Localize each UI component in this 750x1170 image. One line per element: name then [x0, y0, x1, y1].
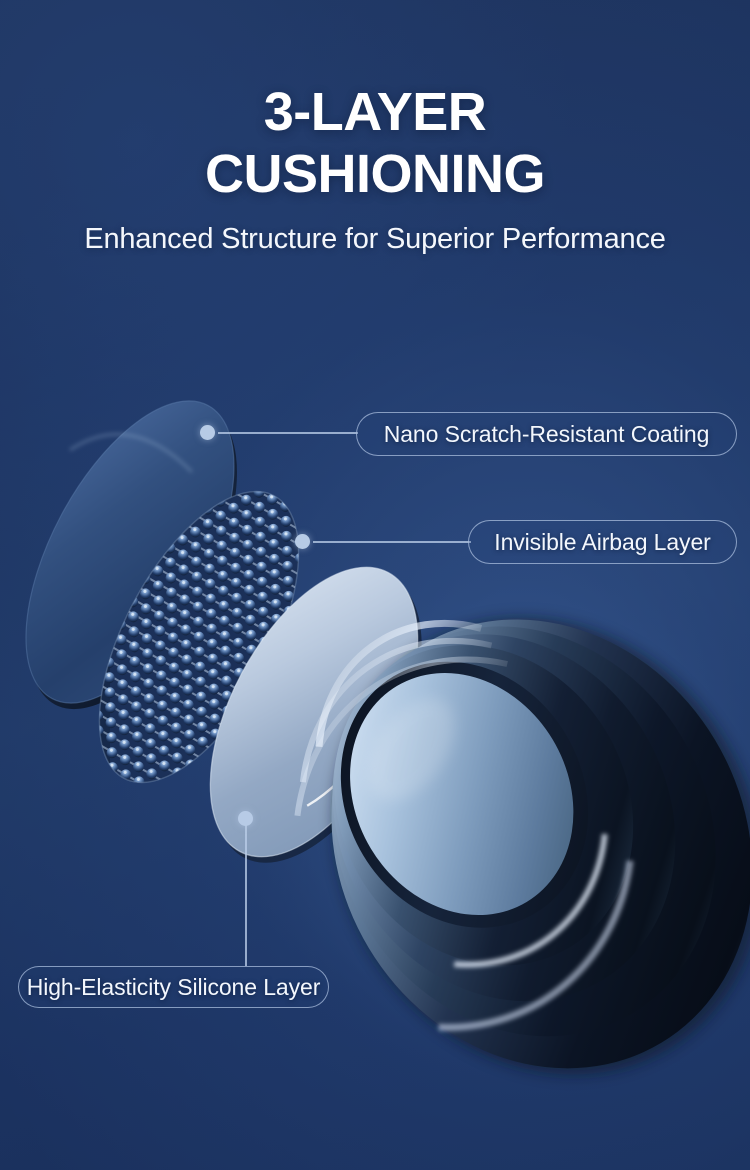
page-title-line-1: 3-LAYER: [0, 80, 750, 144]
leader-line-silicone: [245, 818, 247, 966]
page-subtitle: Enhanced Structure for Superior Performa…: [0, 222, 750, 256]
callout-invisible-airbag: Invisible Airbag Layer: [468, 520, 737, 564]
callout-nano-coating: Nano Scratch-Resistant Coating: [356, 412, 737, 456]
marker-dot-silicone: [238, 811, 253, 826]
callout-silicone-layer: High-Elasticity Silicone Layer: [18, 966, 329, 1008]
header-block: 3-LAYER CUSHIONING Enhanced Structure fo…: [0, 0, 750, 256]
leader-line-coating: [218, 432, 358, 434]
infographic-canvas: 3-LAYER CUSHIONING Enhanced Structure fo…: [0, 0, 750, 1170]
marker-dot-airbag: [295, 534, 310, 549]
leader-line-airbag: [313, 541, 471, 543]
page-title-line-2: CUSHIONING: [0, 142, 750, 206]
marker-dot-coating: [200, 425, 215, 440]
